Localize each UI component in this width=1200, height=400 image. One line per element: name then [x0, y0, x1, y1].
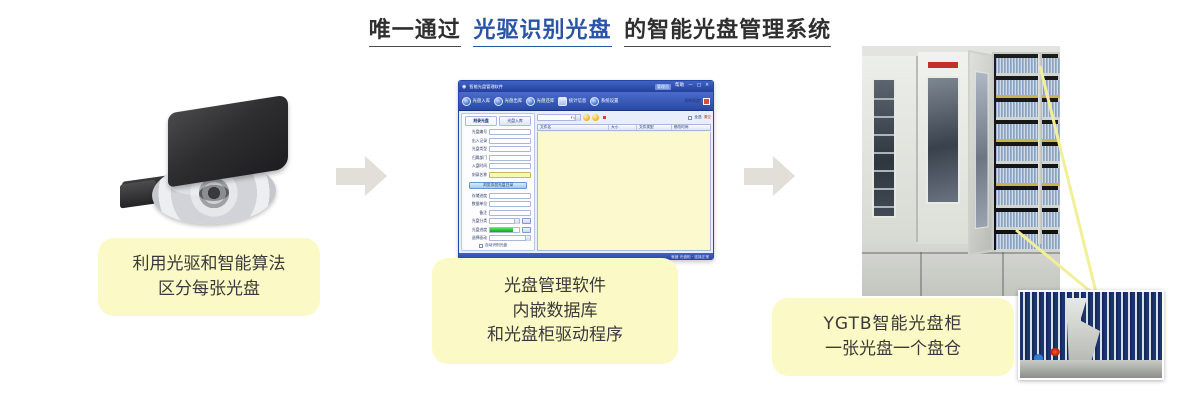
toolbar-button-stats[interactable]: 统计信息	[558, 97, 586, 106]
column-modified[interactable]: 修改时间	[672, 125, 710, 130]
folder-up-icon[interactable]	[583, 114, 590, 121]
cabinet-left-unit	[862, 56, 918, 242]
path-input[interactable]: F:\	[537, 114, 581, 121]
form-row-data-unit[interactable]: 数据单位	[465, 201, 531, 208]
form-row-disc-type[interactable]: 光盘类型	[465, 146, 531, 153]
field-label: 归属部门	[465, 155, 487, 161]
folder-new-icon[interactable]	[592, 114, 599, 121]
callout-center-line-1: 光盘管理软件	[504, 274, 606, 299]
chevron-down-icon	[525, 236, 530, 241]
app-toolbar[interactable]: 光盘入库 光盘出库 光盘还库 统计信息 系统设置 即时同步	[459, 92, 713, 111]
disc-slot-closeup-photo	[1018, 290, 1164, 380]
dvd-body	[168, 94, 288, 187]
window-title: 智能光盘管理软件	[469, 84, 503, 90]
gear-icon	[590, 97, 599, 106]
column-filename[interactable]: 文件名	[538, 125, 609, 130]
disc-hub	[199, 184, 230, 202]
disc-find-icon	[526, 97, 535, 106]
field-label: 光盘编号	[465, 129, 487, 135]
form-row-storage-progress[interactable]: 存储进度	[465, 192, 531, 199]
form-row-remark[interactable]: 备注	[465, 209, 531, 216]
toolbar-label: 统计信息	[569, 98, 587, 104]
stop-icon[interactable]	[603, 116, 606, 119]
path-bar[interactable]: F:\ 全选 清空	[537, 113, 711, 122]
field-label: 光盘分类	[465, 218, 487, 224]
toolbar-label: 系统设置	[601, 98, 619, 104]
status-text: 就绪 光盘柜 · 连接正常	[671, 255, 709, 260]
cabinet-frame-post	[1038, 54, 1042, 244]
cabinet-middle-glass	[926, 76, 960, 204]
sync-status[interactable]: 即时同步	[685, 98, 710, 105]
help-button[interactable]: 帮助	[674, 84, 685, 89]
disc-id-input[interactable]	[489, 129, 531, 135]
field-label: 光盘进度	[465, 227, 487, 233]
cabinet-open-door	[968, 50, 993, 256]
title-highlight: 光驱识别光盘	[473, 12, 611, 47]
toolbar-button-settings[interactable]: 系统设置	[590, 97, 618, 106]
column-filetype[interactable]: 文件类型	[637, 125, 672, 130]
form-row-record[interactable]: 出入记录	[465, 137, 531, 144]
toolbar-label: 光盘还库	[537, 98, 555, 104]
disc-type-input[interactable]	[489, 146, 531, 152]
arrow-head	[773, 156, 795, 196]
field-label: 存储进度	[465, 193, 487, 199]
checkbox-box[interactable]	[479, 244, 483, 248]
form-row-disc-progress: 光盘进度	[465, 226, 531, 233]
app-main-panel: F:\ 全选 清空 文件名 大小 文件类型 修改时间	[537, 113, 711, 251]
sync-label: 即时同步	[685, 98, 701, 104]
disc-category-select[interactable]	[489, 218, 520, 224]
form-row-driver[interactable]: 选择驱动	[465, 235, 531, 242]
field-label: 选择驱动	[465, 235, 487, 241]
stats-icon	[558, 97, 567, 106]
disc-in-icon	[462, 97, 471, 106]
toolbar-button-disc-in[interactable]: 光盘入库	[462, 97, 490, 106]
close-button[interactable]: ✕	[704, 84, 710, 89]
progress-stepper[interactable]	[522, 227, 531, 233]
file-list-body[interactable]	[537, 132, 711, 251]
driver-select[interactable]	[489, 235, 531, 241]
arrow-shaft	[744, 168, 774, 185]
title-part-1: 唯一通过	[369, 12, 461, 47]
flow-arrow-2	[744, 156, 796, 197]
callout-right-line-2: 一张光盘一个盘仓	[825, 337, 961, 362]
form-row-disc-category[interactable]: 光盘分类	[465, 218, 531, 225]
clear-link[interactable]: 清空	[704, 115, 711, 120]
title-part-2: 的智能光盘管理系统	[624, 12, 831, 47]
form-row-disc-id[interactable]: 光盘编号	[465, 129, 531, 136]
dvd-drive-photo	[112, 98, 298, 226]
form-row-burn-name[interactable]: 刻录名称	[465, 171, 531, 178]
cabinet-open-interior	[992, 52, 1060, 252]
chevron-down-icon	[575, 115, 580, 121]
window-titlebar: ◉ 智能光盘管理软件 管理员 帮助 — □ ✕	[459, 81, 713, 92]
callout-right-line-1: YGTB智能光盘柜	[824, 312, 963, 337]
chevron-down-icon	[514, 219, 519, 224]
form-row-intake-time[interactable]: 入盘时间	[465, 163, 531, 170]
cabinet-door-glass	[975, 71, 988, 229]
sidebar-tabs[interactable]: 刻录光盘 光盘入库	[465, 116, 531, 126]
toolbar-button-disc-return[interactable]: 光盘还库	[526, 97, 554, 106]
select-all-label: 全选	[694, 115, 701, 120]
disc-out-icon	[494, 97, 503, 106]
auto-detect-checkbox[interactable]: 自动识别光盘	[465, 243, 531, 248]
app-body: 刻录光盘 光盘入库 光盘编号 出入记录 光盘类型 归属部门 入盘时间	[459, 111, 713, 253]
field-label: 出入记录	[465, 138, 487, 144]
cabinet-label-plate	[928, 62, 958, 68]
storage-progress-input[interactable]	[489, 193, 531, 199]
toolbar-button-disc-out[interactable]: 光盘出库	[494, 97, 522, 106]
disc-progress-bar	[489, 227, 520, 233]
toolbar-label: 光盘入库	[473, 98, 491, 104]
callout-center-line-3: 和光盘柜驱动程序	[487, 323, 623, 348]
field-label: 刻录名称	[465, 172, 487, 178]
sidebar-tab-burn[interactable]: 刻录光盘	[465, 116, 497, 126]
maximize-button[interactable]: □	[696, 84, 702, 89]
field-label: 入盘时间	[465, 163, 487, 169]
callout-center: 光盘管理软件 内嵌数据库 和光盘柜驱动程序	[432, 258, 678, 364]
red-led-indicator	[1050, 348, 1060, 356]
department-input[interactable]	[489, 155, 531, 161]
select-all-checkbox[interactable]	[688, 116, 692, 120]
callout-right: YGTB智能光盘柜 一张光盘一个盘仓	[772, 298, 1014, 376]
burn-name-input[interactable]	[489, 172, 531, 178]
arrow-head	[365, 156, 387, 196]
intake-time-input[interactable]	[489, 163, 531, 169]
column-size[interactable]: 大小	[609, 125, 637, 130]
disc-cabinet-photo	[862, 46, 1060, 296]
minimize-button[interactable]: —	[687, 84, 694, 89]
field-label: 数据单位	[465, 201, 487, 207]
sync-flag-icon	[703, 98, 710, 105]
path-bar-right[interactable]: 全选 清空	[688, 115, 711, 120]
field-label: 光盘类型	[465, 146, 487, 152]
app-sidebar[interactable]: 刻录光盘 光盘入库 光盘编号 出入记录 光盘类型 归属部门 入盘时间	[461, 113, 535, 251]
form-row-department[interactable]: 归属部门	[465, 154, 531, 161]
user-badge: 管理员	[655, 84, 671, 90]
callout-left: 利用光驱和智能算法 区分每张光盘	[98, 238, 320, 316]
refresh-button[interactable]	[522, 218, 531, 224]
cabinet-middle-unit	[918, 52, 970, 244]
disc-icon: ◉	[462, 84, 466, 90]
data-unit-input[interactable]	[489, 201, 531, 207]
sidebar-tab-intake[interactable]: 光盘入库	[499, 116, 531, 126]
software-window[interactable]: ◉ 智能光盘管理软件 管理员 帮助 — □ ✕ 光盘入库 光盘出库 光盘还库 统…	[458, 80, 714, 260]
record-input[interactable]	[489, 138, 531, 144]
remark-input[interactable]	[489, 210, 531, 216]
flow-arrow-1	[336, 156, 388, 197]
cabinet-left-glass	[872, 78, 896, 218]
file-list-header[interactable]: 文件名 大小 文件类型 修改时间	[537, 124, 711, 131]
arrow-shaft	[336, 168, 366, 185]
callout-left-line-2: 区分每张光盘	[158, 277, 260, 302]
slot-base-rail	[1020, 360, 1162, 378]
browse-disc-folder-button[interactable]: 浏览添加光盘目录	[469, 182, 527, 189]
callout-left-line-1: 利用光驱和智能算法	[133, 252, 286, 277]
page-title: 唯一通过 光驱识别光盘 的智能光盘管理系统	[0, 12, 1200, 47]
checkbox-label: 自动识别光盘	[485, 243, 507, 248]
window-controls[interactable]: 帮助 — □ ✕	[674, 84, 710, 89]
progress-fill	[490, 228, 513, 232]
field-label: 备注	[465, 210, 487, 216]
dvd-tray-lip	[120, 179, 156, 208]
callout-center-line-2: 内嵌数据库	[513, 299, 598, 324]
toolbar-label: 光盘出库	[505, 98, 523, 104]
